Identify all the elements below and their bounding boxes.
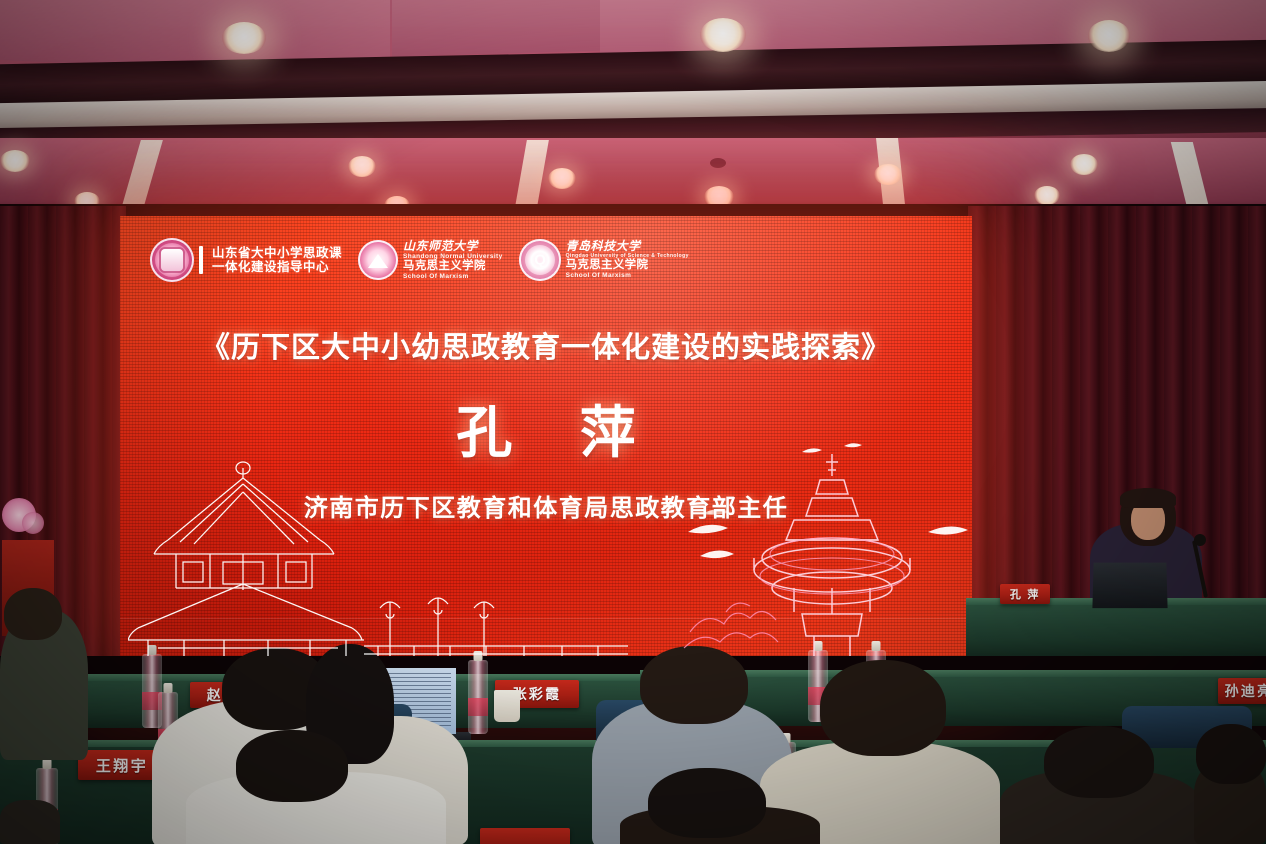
tower-line-art <box>682 436 972 656</box>
nameplate-text: 王翔宇 <box>96 755 148 776</box>
logo2-script: 山东师范大学 <box>403 240 503 253</box>
nameplate-sundiliang: 孙迪亮 <box>1218 678 1266 704</box>
presentation-title: 《历下区大中小幼思政教育一体化建设的实践探索》 <box>120 324 972 366</box>
attendee-head <box>648 768 766 838</box>
logo3-line2: 马克思主义学院 <box>566 259 689 272</box>
attendee-body <box>0 800 60 844</box>
ceiling-light <box>1088 20 1130 52</box>
podium-nameplate-text: 孔 萍 <box>1010 586 1040 602</box>
ceiling-light <box>874 164 902 185</box>
logo2-en2: School Of Marxism <box>403 273 503 280</box>
attendee-head <box>1044 726 1154 798</box>
ceiling-light <box>548 168 576 189</box>
attendee-head <box>640 646 748 724</box>
logo-sdnu-marxism: 山东师范大学 Shandong Normal University 马克思主义学… <box>358 240 503 281</box>
logo3-en2: School Of Marxism <box>566 272 689 279</box>
nameplate-text: 孙迪亮 <box>1225 681 1266 701</box>
ceiling-light <box>700 18 746 52</box>
logo1-line1: 山东省大中小学思政课 <box>212 246 342 260</box>
speaker-hair-front <box>1120 488 1176 508</box>
speaker-laptop <box>1092 563 1167 609</box>
paper-cup <box>494 690 520 722</box>
logo2-line2: 马克思主义学院 <box>403 260 503 273</box>
logo2-en: Shandong Normal University <box>403 253 503 260</box>
attendee-head <box>1196 724 1266 784</box>
attendee-head <box>820 660 946 756</box>
qust-emblem-icon <box>519 239 561 281</box>
ceiling-vent <box>710 158 726 168</box>
nameplate-partial <box>480 828 570 844</box>
flower-arrangement <box>22 512 44 534</box>
head-table <box>966 600 1266 658</box>
logo-qust-marxism: 青岛科技大学 Qingdao University of Science & T… <box>519 239 689 281</box>
conference-hall-photo: 山东省大中小学思政课 一体化建设指导中心 山东师范大学 Shandong Nor… <box>0 0 1266 844</box>
ceiling-light <box>0 150 30 172</box>
sdnu-emblem-icon <box>358 240 398 280</box>
microphone <box>1194 534 1206 546</box>
logo3-script: 青岛科技大学 <box>566 240 689 253</box>
attendee-head <box>236 730 348 802</box>
podium-nameplate: 孔 萍 <box>1000 584 1050 604</box>
ceiling-light <box>1070 154 1098 175</box>
ceiling-light <box>348 156 376 177</box>
bottle-label <box>468 698 488 716</box>
logo3-en: Qingdao University of Science & Technolo… <box>566 254 689 260</box>
water-bottle <box>468 660 488 734</box>
sd-center-emblem-icon <box>150 238 194 282</box>
ceiling <box>0 0 1266 212</box>
ceiling-light <box>222 22 266 54</box>
attendee-head <box>4 588 62 640</box>
led-logo-row: 山东省大中小学思政课 一体化建设指导中心 山东师范大学 Shandong Nor… <box>150 238 689 282</box>
logo1-line2: 一体化建设指导中心 <box>212 260 342 274</box>
logo-divider <box>199 246 203 274</box>
ceiling-light <box>1034 186 1060 205</box>
led-display-screen: 山东省大中小学思政课 一体化建设指导中心 山东师范大学 Shandong Nor… <box>120 216 972 656</box>
presenter-affiliation: 济南市历下区教育和体育局思政教育部主任 <box>120 488 972 523</box>
logo-sd-center: 山东省大中小学思政课 一体化建设指导中心 <box>150 238 342 282</box>
presenter-name: 孔 萍 <box>120 388 972 469</box>
